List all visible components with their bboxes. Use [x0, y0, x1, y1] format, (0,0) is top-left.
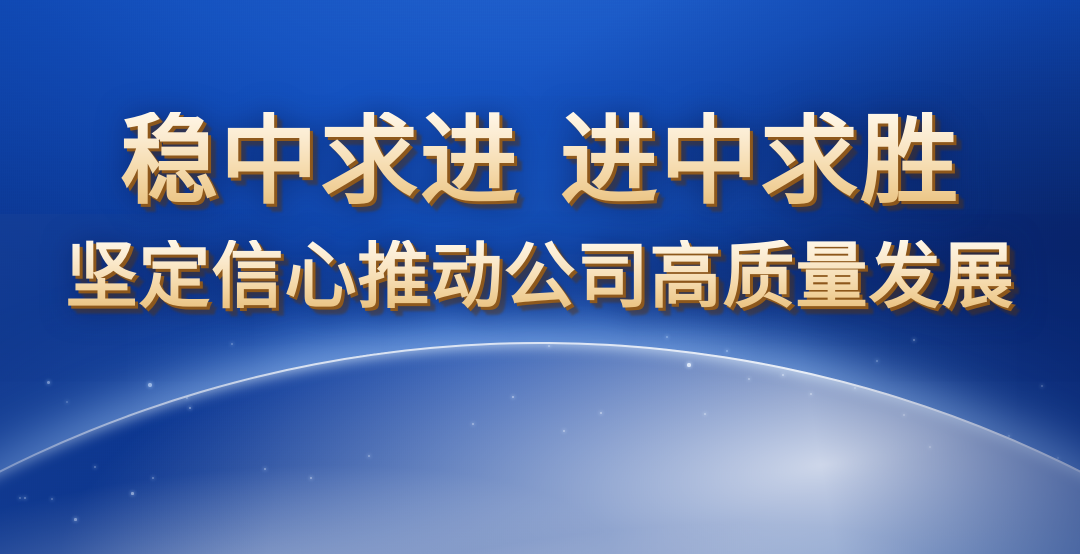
banner-headline: 稳中求进进中求胜: [0, 112, 1080, 210]
banner-text-block: 稳中求进进中求胜 坚定信心推动公司高质量发展: [0, 112, 1080, 312]
banner-subheadline: 坚定信心推动公司高质量发展: [0, 240, 1080, 312]
headline-phrase-2: 进中求胜: [560, 104, 960, 218]
headline-phrase-1: 稳中求进: [120, 104, 520, 218]
promotional-banner: 稳中求进进中求胜 坚定信心推动公司高质量发展: [0, 0, 1080, 554]
